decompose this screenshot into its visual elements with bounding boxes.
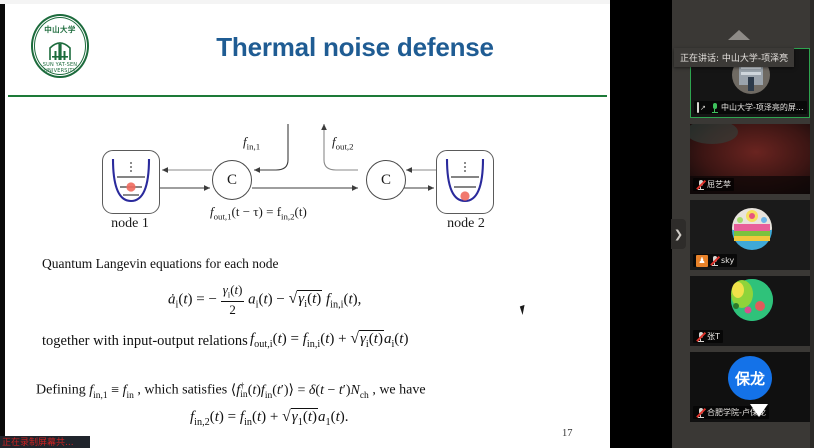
delay-relation-end: (t) [295, 204, 307, 219]
tile-3-label: 张T [693, 330, 723, 343]
mouse-cursor-slide [520, 304, 530, 315]
gamma-over-two-fraction: γi(t) 2 [221, 282, 245, 318]
mouse-cursor-panel [750, 404, 768, 417]
chevron-right-icon[interactable]: ❯ [671, 219, 686, 249]
page-number: 17 [562, 428, 573, 439]
langevin-intro-text: Quantum Langevin equations for each node [42, 256, 279, 272]
equation-input-output: fout,i(t) = fin,i(t) + √γi(t)ai(t) [250, 330, 408, 350]
defining-word-b: , which satisfies [137, 383, 227, 398]
f-in-1-subscript: in,1 [247, 142, 261, 152]
taskbar-sliver[interactable]: 正在录制屏幕共... [0, 436, 90, 448]
presentation-slide[interactable]: 中山大学 SUN YAT-SEN UNIVERSITY Thermal nois… [0, 0, 610, 448]
coupler-c2-label: C [381, 172, 391, 189]
sqrt-gamma-2: √γi(t) [350, 330, 384, 350]
microphone-muted-icon [710, 255, 719, 266]
video-tile-1[interactable]: 屈艺苹 [690, 124, 810, 194]
participant-strip-scrollbar[interactable] [810, 0, 814, 448]
tile-1-name: 屈艺苹 [707, 179, 731, 190]
microphone-on-icon [710, 102, 719, 113]
slide-title: Thermal noise defense [120, 32, 590, 63]
microphone-muted-icon [696, 179, 705, 190]
host-badge-icon: ♟ [696, 255, 708, 267]
node-1-label: node 1 [70, 216, 190, 232]
letterbox-gap [610, 0, 672, 448]
tile-2-name: sky [721, 256, 734, 265]
equation-f-in-2: fin,2(t) = fin(t) + √γ1(t)a1(t). [190, 408, 349, 428]
coupler-c1-label: C [227, 172, 237, 189]
seal-archway-icon [48, 36, 72, 62]
delay-relation-middle: (t − τ) = f [232, 204, 282, 219]
potential-well-node-1 [103, 151, 159, 213]
tile-3-name: 张T [707, 331, 720, 342]
title-divider [8, 95, 607, 97]
triangle-up-icon[interactable] [728, 30, 750, 40]
potential-well-node-2 [437, 151, 493, 213]
network-diagram: node 1 C C node 2 fin,1 fo [0, 112, 610, 252]
speaking-tooltip: 正在讲话: 中山大学-项泽亮 [674, 48, 794, 67]
coupler-c2: C [366, 160, 406, 200]
defining-word-c: , we have [372, 383, 425, 398]
tile-4-initials-avatar: 保龙 [728, 356, 772, 400]
node-2-label: node 2 [406, 216, 526, 232]
tile-0-name: 中山大学-项泽亮的屏... [721, 102, 804, 113]
f-out-1-subscript: out,1 [214, 212, 232, 222]
slide-top-edge [0, 0, 610, 4]
tile-2-label: ♟ sky [693, 254, 737, 267]
seal-chinese-name: 中山大学 [28, 24, 92, 35]
defining-correlator: ⟨f†in(t)fin(t′)⟩ = δ(t − t′)Nch [231, 383, 373, 398]
f-in-2-subscript: in,2 [281, 212, 295, 222]
seal-english-name: SUN YAT-SEN UNIVERSITY [28, 62, 92, 74]
node-1-box [102, 150, 160, 214]
equation-langevin: ȧi(t) = − γi(t) 2 ai(t) − √γi(t) fin,i(t… [168, 282, 361, 318]
node-2-box [436, 150, 494, 214]
defining-word-a: Defining [36, 383, 86, 398]
sqrt-gamma-3: √γ1(t) [282, 408, 318, 428]
microphone-muted-icon [696, 331, 705, 342]
coupler-c1: C [212, 160, 252, 200]
delay-relation-label: fout,1(t − τ) = fin,2(t) [210, 204, 307, 222]
io-intro-text: together with input-output relations [42, 333, 248, 350]
recording-indicator-text: 正在录制屏幕共... [2, 436, 74, 448]
tile-0-label: ↗ 中山大学-项泽亮的屏... [694, 101, 807, 114]
screen-share-icon: ↗ [697, 103, 708, 112]
university-logo: 中山大学 SUN YAT-SEN UNIVERSITY [28, 12, 94, 82]
defining-symbol: fin,1 ≡ fin [89, 383, 137, 398]
participant-strip[interactable]: ❯ ↗ 中山大学-项泽亮的屏... [672, 0, 814, 448]
f-out-2-subscript: out,2 [336, 142, 354, 152]
f-out-2-label: fout,2 [332, 134, 354, 152]
video-tile-3[interactable]: 张T [690, 276, 810, 346]
video-tile-2[interactable]: ♟ sky [690, 200, 810, 270]
sqrt-gamma-1: √γi(t) [289, 290, 323, 310]
f-in-1-label: fin,1 [243, 134, 260, 152]
defining-line: Defining fin,1 ≡ fin , which satisfies ⟨… [36, 381, 426, 400]
tile-1-label: 屈艺苹 [693, 178, 734, 191]
microphone-muted-icon [696, 407, 705, 418]
